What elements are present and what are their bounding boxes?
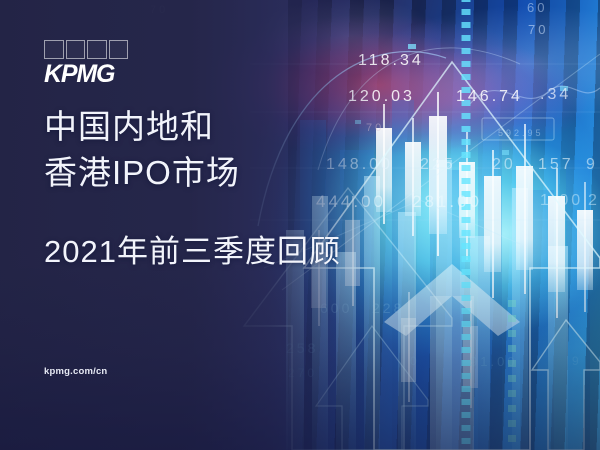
page-subtitle: 2021年前三季度回顾 xyxy=(44,230,404,274)
footer-url: kpmg.com/cn xyxy=(44,366,107,377)
title-line-1: 中国内地和 xyxy=(44,104,374,150)
cover-content: KPMG 中国内地和 香港IPO市场 2021年前三季度回顾 kpmg.com/… xyxy=(0,0,600,450)
kpmg-logo: KPMG xyxy=(44,40,128,87)
page-title: 中国内地和 香港IPO市场 xyxy=(44,104,374,196)
report-cover: 706070118.34120.03146.74.3470592.95148.0… xyxy=(0,0,600,450)
kpmg-logo-bars-icon xyxy=(44,40,128,59)
kpmg-wordmark: KPMG xyxy=(44,61,128,87)
title-line-2: 香港IPO市场 xyxy=(44,150,374,196)
